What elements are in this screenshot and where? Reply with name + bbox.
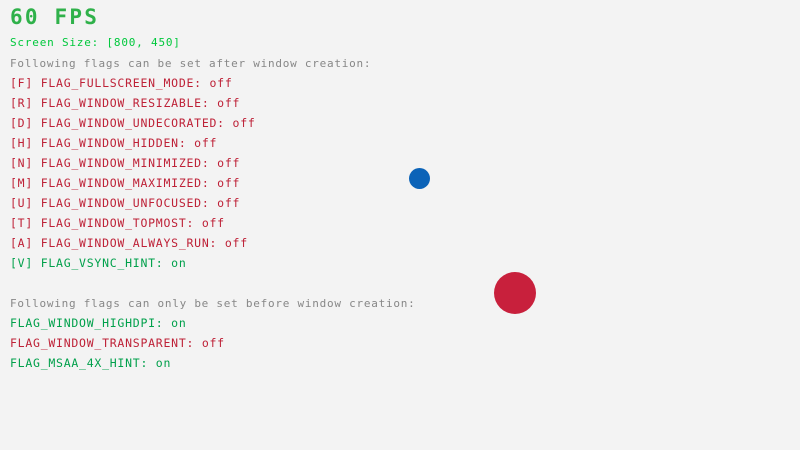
flag-row-window-highdpi: FLAG_WINDOW_HIGHDPI: on: [10, 318, 187, 330]
flag-row-msaa-4x-hint: FLAG_MSAA_4X_HINT: on: [10, 358, 171, 370]
screen-size-label: Screen Size: [800, 450]: [10, 37, 181, 48]
section-heading-before-creation: Following flags can only be set before w…: [10, 298, 416, 309]
flag-row-window-transparent: FLAG_WINDOW_TRANSPARENT: off: [10, 338, 225, 350]
flag-row-vsync-hint[interactable]: [V] FLAG_VSYNC_HINT: on: [10, 258, 187, 270]
blue-ball-shape: [409, 168, 430, 189]
fps-counter: 60 FPS: [10, 7, 99, 28]
flag-row-window-hidden[interactable]: [H] FLAG_WINDOW_HIDDEN: off: [10, 138, 217, 150]
flag-row-window-resizable[interactable]: [R] FLAG_WINDOW_RESIZABLE: off: [10, 98, 240, 110]
flag-row-window-unfocused[interactable]: [U] FLAG_WINDOW_UNFOCUSED: off: [10, 198, 240, 210]
red-ball-shape: [494, 272, 536, 314]
flag-row-window-topmost[interactable]: [T] FLAG_WINDOW_TOPMOST: off: [10, 218, 225, 230]
flag-row-window-undecorated[interactable]: [D] FLAG_WINDOW_UNDECORATED: off: [10, 118, 256, 130]
flag-row-fullscreen-mode[interactable]: [F] FLAG_FULLSCREEN_MODE: off: [10, 78, 233, 90]
flag-row-window-maximized[interactable]: [M] FLAG_WINDOW_MAXIMIZED: off: [10, 178, 240, 190]
app-window[interactable]: 60 FPS Screen Size: [800, 450] Following…: [0, 0, 800, 450]
flag-row-window-minimized[interactable]: [N] FLAG_WINDOW_MINIMIZED: off: [10, 158, 240, 170]
flag-row-window-always-run[interactable]: [A] FLAG_WINDOW_ALWAYS_RUN: off: [10, 238, 248, 250]
section-heading-after-creation: Following flags can be set after window …: [10, 58, 371, 69]
